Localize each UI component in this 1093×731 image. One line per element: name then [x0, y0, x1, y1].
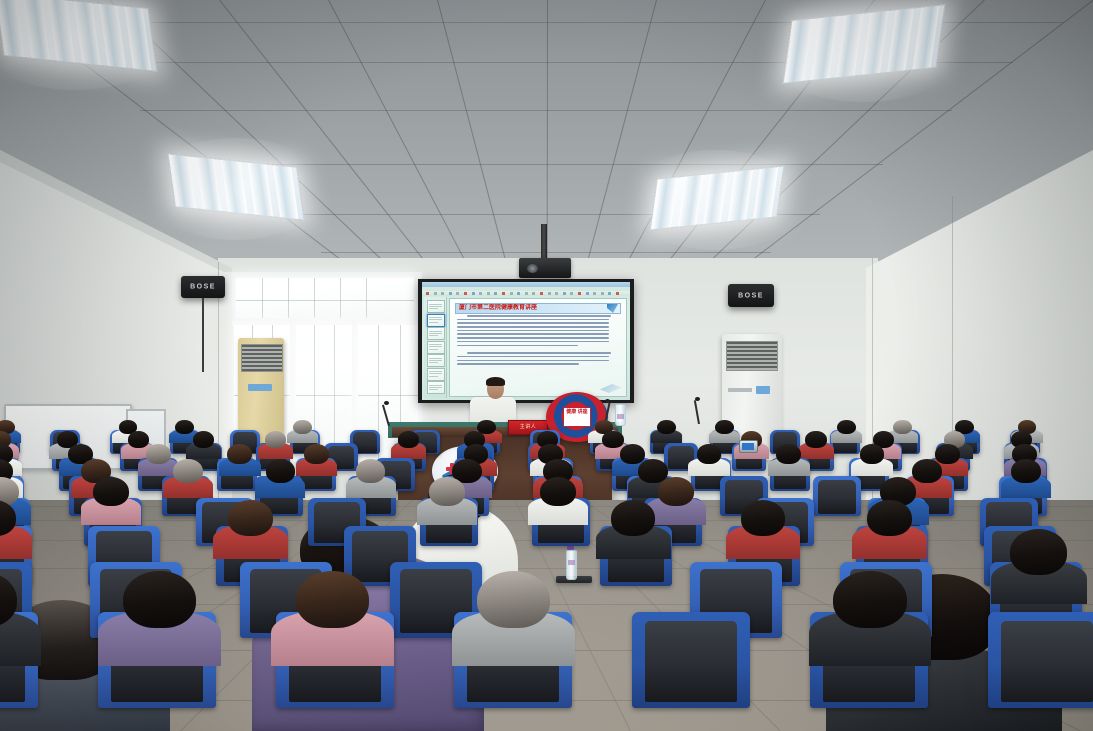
toolbar-icon[interactable] — [502, 292, 505, 295]
light-louver — [222, 160, 248, 214]
audience-member-head — [657, 420, 676, 434]
bose-brand-label: BOSE — [181, 284, 225, 291]
toolbar-icon[interactable] — [563, 292, 566, 295]
light-louver — [0, 0, 25, 57]
ceiling-grid-crossline — [140, 110, 952, 111]
seat-cushion — [645, 621, 737, 703]
audience-member-head — [860, 444, 885, 464]
slide-text-line — [457, 330, 609, 332]
audience-member-head — [477, 571, 550, 629]
toolbar-icon[interactable] — [608, 292, 611, 295]
seat-cushion — [818, 480, 855, 514]
audience-member-head — [620, 444, 645, 464]
powerpoint-slide-canvas: 厦门市第二医院健康教育讲座 — [449, 298, 627, 397]
ceiling-grid-line — [328, 0, 486, 300]
slide-text-line — [457, 360, 609, 362]
audience-member-head — [1010, 529, 1067, 575]
slide-thumbnail[interactable] — [427, 368, 445, 381]
seat-cushion — [1001, 621, 1093, 703]
light-louver — [273, 165, 299, 219]
slide-text-line — [457, 345, 578, 347]
light-louver — [653, 177, 678, 229]
ceiling-grid-line — [437, 0, 516, 300]
toolbar-icon[interactable] — [616, 292, 619, 295]
ceiling-projector — [519, 258, 571, 278]
toolbar-icon[interactable] — [532, 292, 535, 295]
toolbar-icon[interactable] — [494, 292, 497, 295]
light-louver — [247, 163, 273, 217]
ceiling-grid-line — [607, 0, 766, 300]
audience-member-head — [296, 571, 369, 629]
toolbar-icon[interactable] — [487, 292, 490, 295]
light-louver — [811, 16, 838, 80]
bose-brand-label-right: BOSE — [728, 292, 774, 299]
microphone-head-1 — [384, 401, 389, 405]
light-louver — [912, 6, 939, 70]
audience-member-head — [837, 420, 856, 434]
powerpoint-slide-thumbnails[interactable] — [424, 297, 447, 398]
transom-window — [236, 278, 414, 318]
banner-text-block: 健康 讲座 — [563, 407, 591, 427]
slide-thumbnail[interactable] — [427, 341, 445, 354]
light-louver — [753, 167, 778, 219]
slide-thumbnail[interactable] — [427, 314, 445, 327]
recessed-louver-light-4 — [649, 165, 784, 230]
light-louver — [99, 4, 126, 68]
slide-text-line — [467, 352, 611, 354]
slide-title: 厦门市第二医院健康教育讲座 — [459, 304, 606, 313]
light-louver — [23, 0, 50, 60]
water-bottle-table — [615, 404, 626, 426]
bottle-cap — [567, 546, 574, 550]
audience-member-head — [227, 444, 252, 464]
toolbar-icon[interactable] — [540, 292, 543, 295]
audience-member-head — [611, 500, 656, 536]
slide-text-line — [457, 337, 609, 339]
audience-member-head — [356, 459, 386, 483]
wall-corner-right — [872, 258, 873, 538]
toolbar-icon[interactable] — [578, 292, 581, 295]
light-louver — [836, 14, 863, 78]
toolbar-icon[interactable] — [517, 292, 520, 295]
ceiling-grid-line — [577, 0, 657, 300]
slide-text-line — [457, 356, 609, 358]
slide-title-banner: 厦门市第二医院健康教育讲座 — [455, 303, 621, 314]
toolbar-icon[interactable] — [555, 292, 558, 295]
light-louver — [703, 172, 728, 224]
toolbar-icon[interactable] — [586, 292, 589, 295]
audience-member-head — [602, 431, 623, 448]
toolbar-icon[interactable] — [479, 292, 482, 295]
light-louver — [170, 155, 196, 209]
toolbar-icon[interactable] — [593, 292, 596, 295]
audience-member-head — [833, 571, 906, 629]
slide-text-line — [457, 319, 609, 321]
auditorium-seat[interactable] — [632, 612, 750, 708]
camera-screen — [742, 443, 754, 450]
audience-member-head — [93, 477, 129, 506]
toolbar-icon[interactable] — [464, 292, 467, 295]
slide-text-line — [457, 341, 609, 343]
microphone-head-2 — [605, 399, 610, 403]
auditorium-seat[interactable] — [988, 612, 1093, 708]
toolbar-icon[interactable] — [449, 292, 452, 295]
light-louver — [887, 8, 914, 72]
toolbar-icon[interactable] — [434, 292, 437, 295]
light-louver — [196, 157, 222, 211]
audience-member-head — [638, 459, 668, 483]
speaker-cable-left — [202, 298, 204, 372]
audience-member-head — [893, 420, 912, 434]
audience-member-head — [128, 431, 149, 448]
audience-member-head — [173, 459, 203, 483]
slide-thumbnail[interactable] — [427, 327, 445, 340]
recessed-louver-light-1 — [0, 0, 158, 72]
audience-member-head — [741, 500, 786, 536]
slide-text-line — [467, 315, 611, 317]
audience-member-head — [293, 420, 312, 434]
audience-member-head — [697, 444, 722, 464]
audience-member-head — [540, 477, 576, 506]
audience-member-head — [146, 444, 171, 464]
audience-member-head — [429, 477, 465, 506]
slide-body-text — [457, 315, 619, 391]
audience-member-head — [935, 444, 960, 464]
light-louver — [48, 0, 75, 62]
audience-member-head — [265, 431, 286, 448]
light-louver — [678, 175, 703, 227]
audience-member-head — [715, 420, 734, 434]
toolbar-icon[interactable] — [456, 292, 459, 295]
transom-frame — [234, 276, 420, 324]
slide-logo-icon — [607, 304, 618, 313]
recessed-louver-light-3 — [782, 4, 945, 84]
toolbar-icon[interactable] — [570, 292, 573, 295]
light-louver — [728, 170, 753, 222]
audience-member-head — [1011, 459, 1041, 483]
bose-speaker-left: BOSE — [181, 276, 225, 298]
audience-member-head — [867, 500, 912, 536]
light-louver — [124, 6, 151, 70]
bose-speaker-right: BOSE — [728, 284, 774, 307]
toolbar-icon[interactable] — [510, 292, 513, 295]
photo-scene: BOSE BOSE 厦门市第二医院健康教育讲座 — [0, 0, 1093, 731]
light-louver — [862, 11, 889, 75]
audience-member-head — [266, 459, 296, 483]
slide-thumbnail[interactable] — [427, 354, 445, 367]
audience-member-head — [228, 500, 273, 536]
microphone-head-3 — [695, 397, 700, 401]
slide-thumbnail[interactable] — [427, 381, 445, 394]
toolbar-icon[interactable] — [525, 292, 528, 295]
audience-member-head — [776, 444, 801, 464]
slide-text-line — [457, 333, 609, 335]
slide-text-line — [457, 326, 609, 328]
projection-screen: 厦门市第二医院健康教育讲座 — [422, 282, 630, 400]
audience-member-head — [658, 477, 694, 506]
audience-member-head — [912, 459, 942, 483]
slide-text-line — [457, 363, 579, 365]
audience-member-head — [304, 444, 329, 464]
light-louver — [786, 19, 813, 83]
projector-lens — [527, 264, 538, 273]
audience-member-head — [193, 431, 214, 448]
projection-screen-frame: 厦门市第二医院健康教育讲座 — [418, 279, 634, 403]
slide-thumbnail[interactable] — [427, 300, 445, 313]
banner-text: 健康 讲座 — [564, 408, 590, 416]
toolbar-icon[interactable] — [472, 292, 475, 295]
toolbar-icon[interactable] — [441, 292, 444, 295]
audience-member-head — [805, 431, 826, 448]
attendee-camera — [739, 440, 758, 453]
audience-member-head — [398, 431, 419, 448]
toolbar-icon[interactable] — [601, 292, 604, 295]
toolbar-icon[interactable] — [426, 292, 429, 295]
presenter-hair — [486, 377, 505, 386]
audience-member-head — [175, 420, 194, 434]
auditorium-seat[interactable] — [813, 476, 861, 516]
audience-member-head — [123, 571, 196, 629]
toolbar-icon[interactable] — [548, 292, 551, 295]
water-bottle-tray — [566, 550, 577, 580]
powerpoint-toolbar[interactable] — [422, 291, 630, 296]
slide-text-line — [457, 322, 609, 324]
light-louver — [74, 1, 101, 65]
